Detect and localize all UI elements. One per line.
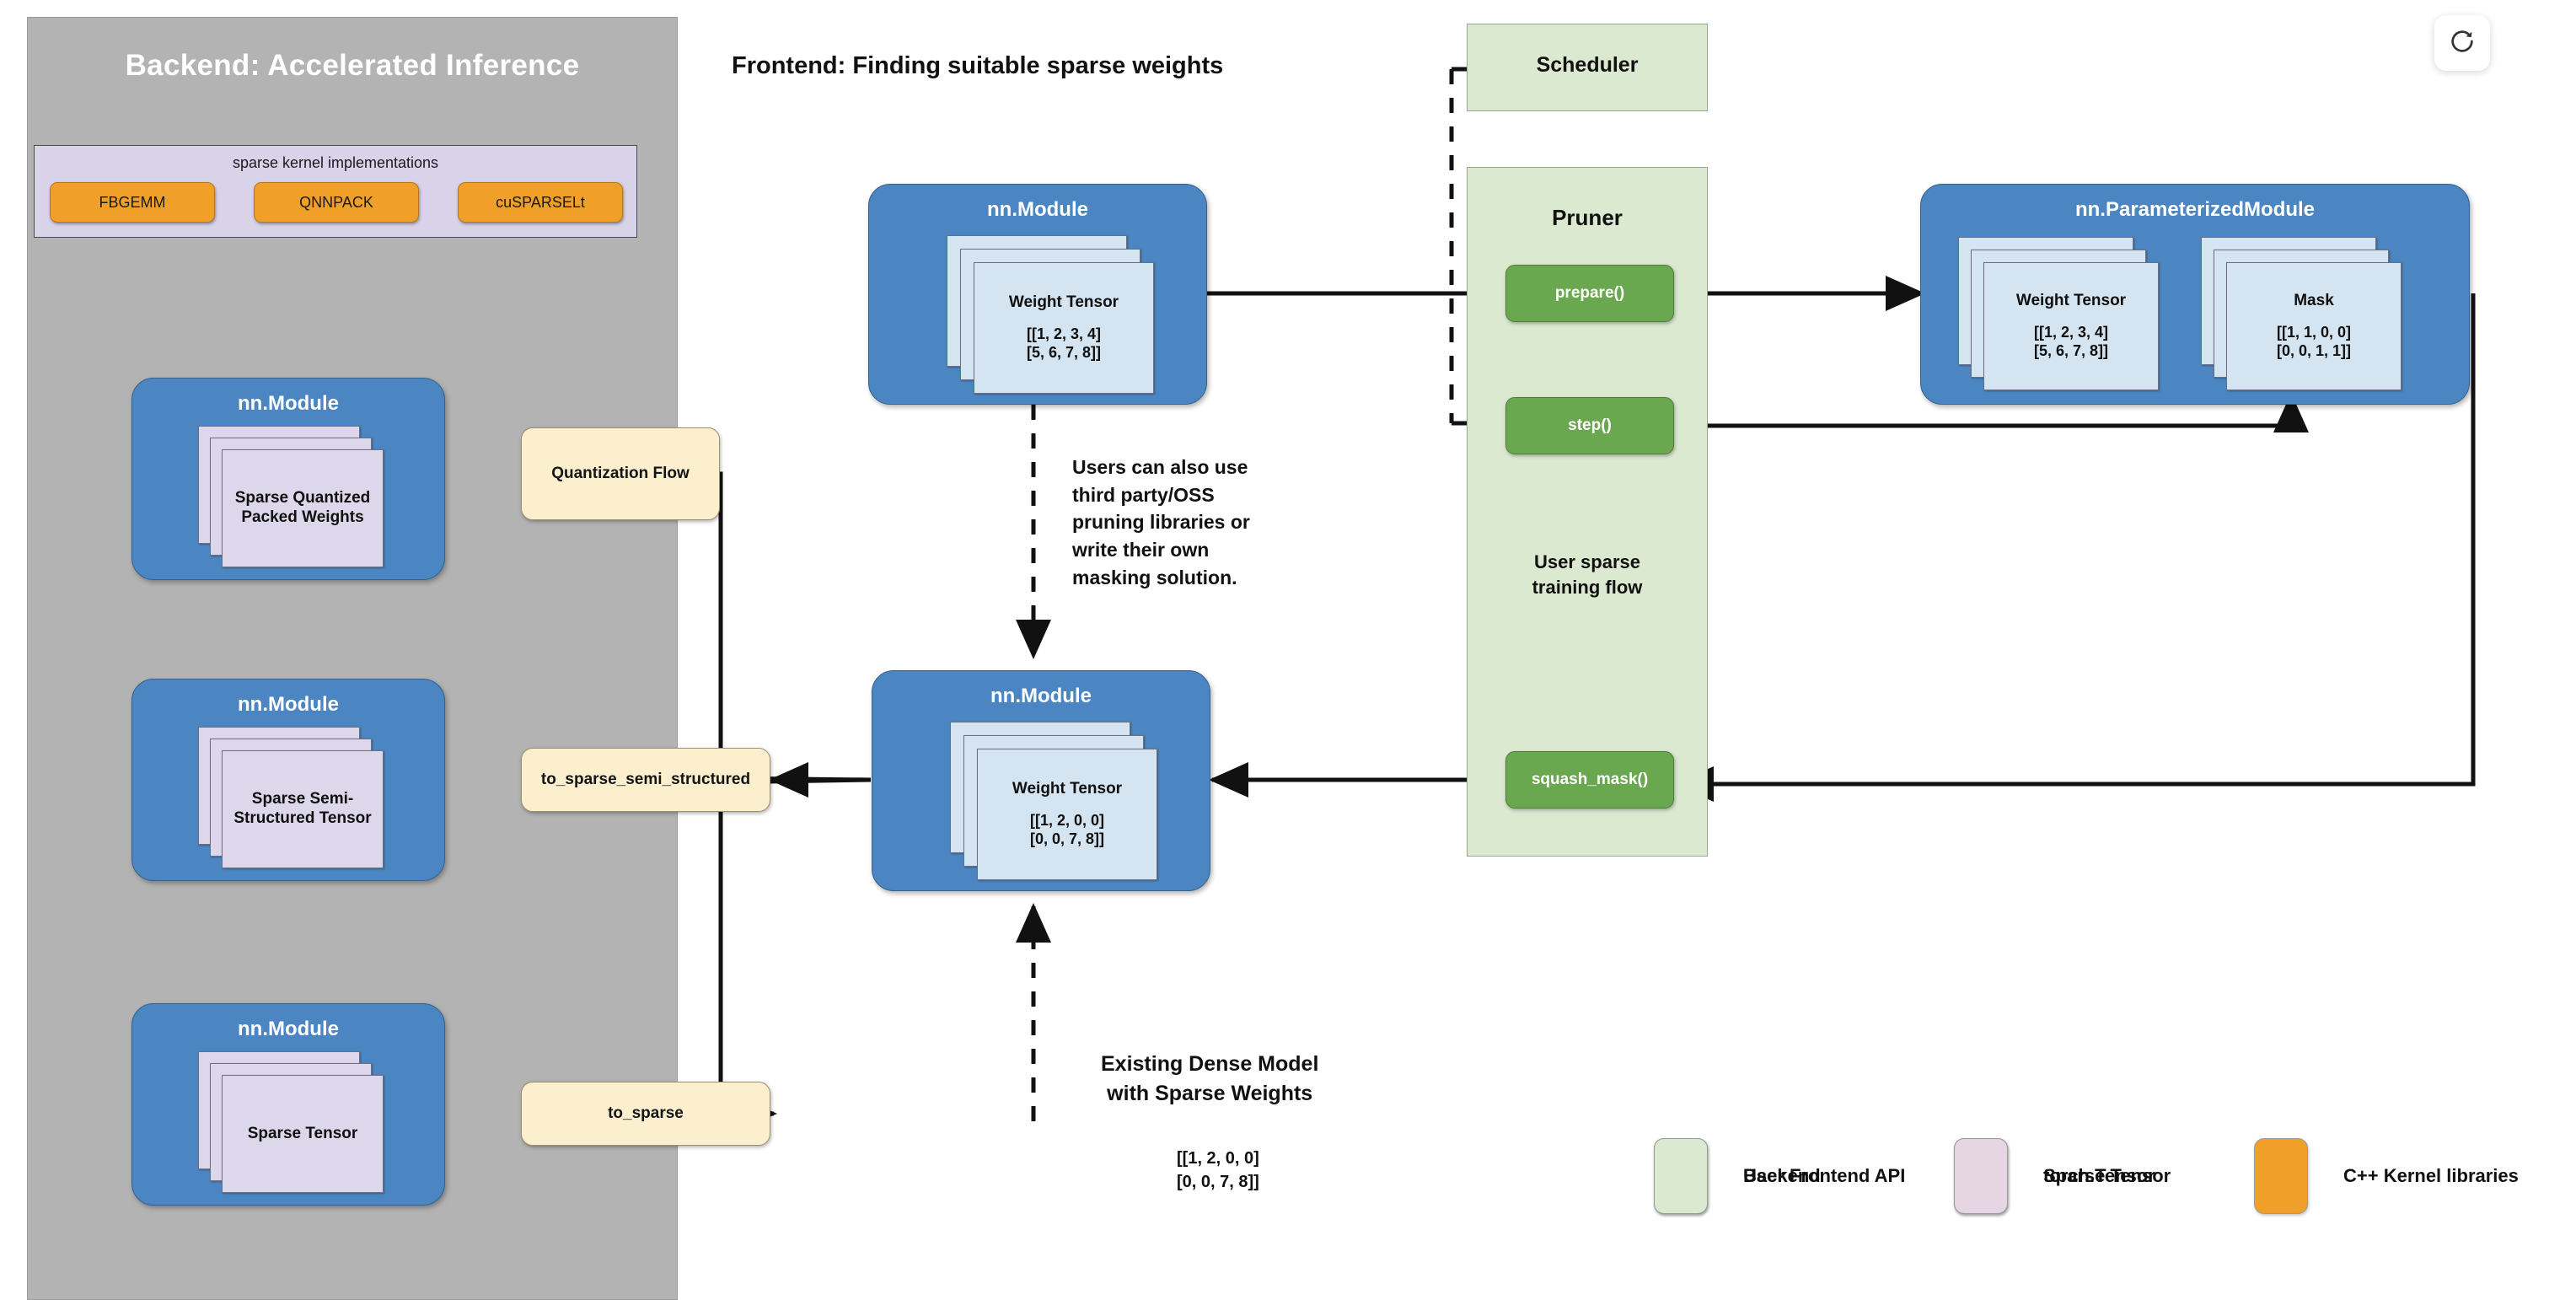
legend-item-user-frontend-api: User Frontend API: [1654, 1138, 1905, 1214]
backend-module-sparse-quantized[interactable]: nn.Module Sparse Quantized Packed Weight…: [131, 378, 445, 580]
kernel-chip-qnnpack[interactable]: QNNPACK: [254, 182, 419, 223]
refresh-button[interactable]: [2434, 15, 2490, 71]
tensor-label: Sparse Tensor: [248, 1125, 358, 1144]
stack-sheet-front: Sparse Tensor: [222, 1075, 384, 1193]
pill-to-sparse[interactable]: to_sparse: [521, 1082, 770, 1146]
stack-sheet-front: Sparse Semi-Structured Tensor: [222, 750, 384, 868]
backend-module-sparse-tensor[interactable]: nn.Module Sparse Tensor: [131, 1003, 445, 1206]
pill-quantization-flow[interactable]: Quantization Flow: [521, 427, 720, 520]
tensor-stack: Sparse Tensor: [198, 1051, 384, 1195]
stack-sheet-front: Weight Tensor [[1, 2, 3, 4] [5, 6, 7, 8]…: [1983, 262, 2159, 390]
legend-label-sparse-tensor: Sparse Tensor: [2043, 1165, 2171, 1187]
frontend-title: Frontend: Finding suitable sparse weight…: [732, 52, 1223, 80]
mask-label: Mask: [2294, 292, 2334, 311]
module-title: nn.Module: [872, 685, 1210, 708]
tensor-label: Weight Tensor: [1012, 780, 1122, 799]
tensor-value: [[1, 2, 3, 4] [5, 6, 7, 8]]: [2034, 323, 2108, 361]
legend-label-user-frontend-api: User Frontend API: [1743, 1165, 1905, 1187]
sparse-kernel-implementations-group: sparse kernel implementations FBGEMM QNN…: [34, 145, 637, 238]
refresh-icon: [2449, 28, 2476, 59]
weight-tensor-stack: Weight Tensor [[1, 2, 3, 4] [5, 6, 7, 8]…: [1958, 237, 2169, 397]
tensor-label: Sparse Quantized Packed Weights: [223, 489, 383, 528]
tensor-stack: Sparse Semi-Structured Tensor: [198, 727, 384, 870]
user-sparse-training-flow-note: User sparse training flow: [1467, 550, 1708, 599]
mask-value: [[1, 1, 0, 0] [0, 0, 1, 1]]: [2277, 323, 2351, 361]
frontend-dense-module[interactable]: nn.Module Weight Tensor [[1, 2, 3, 4] [5…: [868, 184, 1207, 405]
stack-sheet-front: Mask [[1, 1, 0, 0] [0, 0, 1, 1]]: [2226, 262, 2402, 390]
tensor-value: [[1, 2, 0, 0] [0, 0, 7, 8]]: [1030, 811, 1104, 849]
mask-stack: Mask [[1, 1, 0, 0] [0, 0, 1, 1]]: [2201, 237, 2412, 397]
scheduler-zone[interactable]: Scheduler: [1467, 24, 1708, 111]
kernel-chip-cusparselt[interactable]: cuSPARSELt: [458, 182, 623, 223]
legend-item-sparse-tensor: Sparse Tensor: [1954, 1138, 2171, 1214]
stack-sheet-front: Weight Tensor [[1, 2, 0, 0] [0, 0, 7, 8]…: [977, 749, 1157, 880]
backend-module-semi-structured[interactable]: nn.Module Sparse Semi-Structured Tensor: [131, 679, 445, 881]
kernel-group-title: sparse kernel implementations: [35, 154, 636, 172]
scheduler-title: Scheduler: [1468, 53, 1707, 78]
tensor-stack: Weight Tensor [[1, 2, 3, 4] [5, 6, 7, 8]…: [947, 235, 1157, 395]
pruner-title: Pruner: [1468, 205, 1707, 231]
legend-swatch-user-frontend-api: [1654, 1138, 1708, 1214]
module-title: nn.Module: [132, 693, 444, 717]
api-button-squash-mask[interactable]: squash_mask(): [1505, 751, 1674, 808]
kernel-chip-fbgemm[interactable]: FBGEMM: [50, 182, 215, 223]
frontend-sparse-module[interactable]: nn.Module Weight Tensor [[1, 2, 0, 0] [0…: [872, 670, 1210, 891]
legend-swatch-cpp-kernel-libraries: [2254, 1138, 2308, 1214]
oss-note: Users can also use third party/OSS pruni…: [1072, 454, 1250, 591]
tensor-label: Sparse Semi-Structured Tensor: [223, 790, 383, 829]
tensor-label: Weight Tensor: [1009, 293, 1119, 313]
legend-item-cpp-kernel-libraries: C++ Kernel libraries: [2254, 1138, 2519, 1214]
tensor-value: [[1, 2, 3, 4] [5, 6, 7, 8]]: [1027, 325, 1101, 363]
api-button-step[interactable]: step(): [1505, 397, 1674, 454]
legend: Backend torch.Tensor User Frontend API S…: [1654, 1138, 2547, 1265]
module-title: nn.Module: [132, 1018, 444, 1041]
legend-swatch-sparse-tensor: [1954, 1138, 2008, 1214]
module-title: nn.Module: [869, 198, 1206, 222]
diagram-canvas: Backend: Accelerated Inference sparse ke…: [0, 0, 2576, 1300]
backend-panel-title: Backend: Accelerated Inference: [27, 49, 678, 83]
dense-model-note: Existing Dense Model with Sparse Weights: [1101, 1050, 1318, 1108]
module-title: nn.ParameterizedModule: [1921, 198, 2469, 222]
module-title: nn.Module: [132, 392, 444, 416]
stack-sheet-front: Weight Tensor [[1, 2, 3, 4] [5, 6, 7, 8]…: [974, 262, 1154, 394]
tensor-label: Weight Tensor: [2016, 292, 2126, 311]
tensor-stack: Weight Tensor [[1, 2, 0, 0] [0, 0, 7, 8]…: [950, 722, 1161, 882]
pill-to-sparse-semi-structured[interactable]: to_sparse_semi_structured: [521, 748, 770, 812]
tensor-stack: Sparse Quantized Packed Weights: [198, 426, 384, 569]
parameterized-module[interactable]: nn.ParameterizedModule Weight Tensor [[1…: [1920, 184, 2470, 405]
stack-sheet-front: Sparse Quantized Packed Weights: [222, 449, 384, 567]
legend-label-cpp-kernel-libraries: C++ Kernel libraries: [2343, 1165, 2519, 1187]
api-button-prepare[interactable]: prepare(): [1505, 265, 1674, 322]
dense-model-value: [[1, 2, 0, 0] [0, 0, 7, 8]]: [1177, 1147, 1259, 1194]
